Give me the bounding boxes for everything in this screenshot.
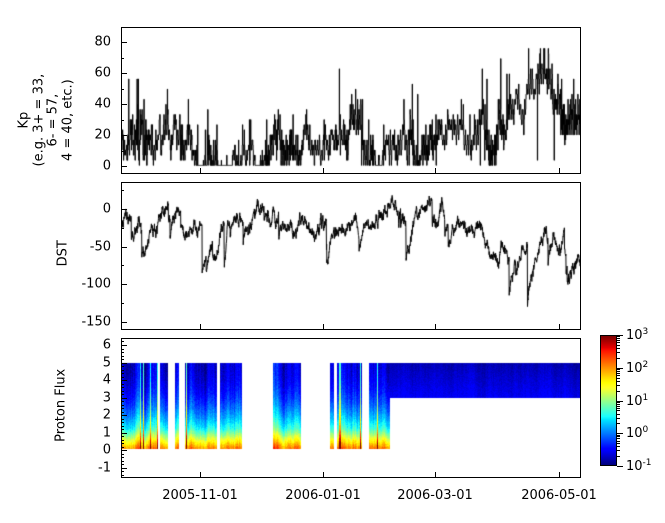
kp-ytick-label: 20 xyxy=(0,128,111,143)
dst-ytick-major xyxy=(121,247,127,248)
colorbar-tick-minor xyxy=(617,375,620,376)
pf-ytick-minor xyxy=(121,370,124,371)
colorbar-tick-minor xyxy=(617,338,620,339)
xtick-major-panel1 xyxy=(323,168,324,174)
xtick-major-panel2 xyxy=(435,324,436,330)
pf-ytick-label: 3 xyxy=(0,390,111,405)
colorbar-tick-minor xyxy=(617,358,620,359)
colorbar-tick-minor xyxy=(617,348,620,349)
pf-ytick-minor xyxy=(121,415,124,416)
pf-ytick-minor xyxy=(121,380,124,381)
pf-ytick-label: 5 xyxy=(0,355,111,370)
pf-ytick-minor xyxy=(121,461,124,462)
colorbar-tick-minor xyxy=(617,450,620,451)
colorbar-exponent: 1 xyxy=(643,393,649,403)
pf-ytick-minor xyxy=(121,391,124,392)
colorbar-tick-minor xyxy=(617,408,620,409)
xtick-major-panel2 xyxy=(200,324,201,330)
xtick-major-panel2 xyxy=(323,324,324,330)
colorbar-exponent: -1 xyxy=(643,458,652,468)
kp-ytick-minor xyxy=(121,151,124,152)
colorbar-exponent: 3 xyxy=(643,327,649,337)
xtick-major-panel3 xyxy=(559,472,560,478)
xtick-major-panel1 xyxy=(435,168,436,174)
xtick-major-panel1 xyxy=(559,168,560,174)
colorbar-tick-label: 100 xyxy=(626,425,648,441)
pf-ytick-minor xyxy=(121,464,124,465)
pf-ytick-minor xyxy=(121,426,124,427)
pf-ytick-minor xyxy=(121,405,124,406)
kp-ytick-major xyxy=(121,42,127,43)
pf-ytick-label: 2 xyxy=(0,408,111,423)
dst-ytick-major xyxy=(121,284,127,285)
dst-ytick-minor xyxy=(121,228,124,229)
colorbar-tick-label: 102 xyxy=(626,360,648,376)
colorbar-tick-minor xyxy=(617,345,620,346)
colorbar-tick-minor xyxy=(617,456,620,457)
colorbar-tick-minor xyxy=(617,340,620,341)
colorbar-tick-minor xyxy=(617,446,620,447)
kp-trace-canvas xyxy=(122,28,580,173)
colorbar-exponent: 0 xyxy=(643,425,649,435)
pf-ytick-minor xyxy=(121,373,124,374)
xtick-label: 2006-01-01 xyxy=(285,488,361,503)
kp-ytick-label: 0 xyxy=(0,159,111,174)
colorbar-tick-minor xyxy=(617,441,620,442)
pf-ytick-minor xyxy=(121,377,124,378)
pf-ytick-minor xyxy=(121,349,124,350)
kp-ytick-major xyxy=(121,104,127,105)
xtick-label: 2005-11-01 xyxy=(162,488,238,503)
pf-ytick-minor xyxy=(121,429,124,430)
colorbar-tick-label: 103 xyxy=(626,327,648,343)
pf-ytick-minor xyxy=(121,359,124,360)
xtick-major-panel3 xyxy=(323,472,324,478)
pf-ytick-label: 0 xyxy=(0,443,111,458)
pf-ytick-minor xyxy=(121,454,124,455)
dst-ytick-minor xyxy=(121,190,124,191)
pf-ytick-minor xyxy=(121,352,124,353)
colorbar-tick-minor xyxy=(617,423,620,424)
pf-ytick-minor xyxy=(121,440,124,441)
pf-ytick-minor xyxy=(121,419,124,420)
colorbar-tick-minor xyxy=(617,381,620,382)
xtick-major-panel3 xyxy=(200,472,201,478)
dst-ytick-label: -50 xyxy=(0,239,111,254)
pf-ytick-minor xyxy=(121,468,124,469)
dst-ytick-major xyxy=(121,322,127,323)
colorbar-tick-label: 10-1 xyxy=(626,458,652,474)
colorbar-frame xyxy=(600,335,617,466)
dst-ytick-label: -100 xyxy=(0,277,111,292)
pf-ytick-minor xyxy=(121,341,124,342)
kp-ytick-label: 60 xyxy=(0,66,111,81)
colorbar-tick-minor xyxy=(617,373,620,374)
pf-ytick-minor xyxy=(121,363,124,364)
pf-ytick-minor xyxy=(121,443,124,444)
pf-ytick-minor xyxy=(121,475,124,476)
colorbar-tick-minor xyxy=(617,443,620,444)
pf-ytick-minor xyxy=(121,384,124,385)
xtick-major-panel2 xyxy=(559,324,560,330)
pf-ytick-minor xyxy=(121,345,124,346)
colorbar-tick-minor xyxy=(617,378,620,379)
pf-ytick-minor xyxy=(121,401,124,402)
pf-ytick-label: 1 xyxy=(0,425,111,440)
colorbar-gradient-canvas xyxy=(601,336,616,465)
pf-ytick-minor xyxy=(121,412,124,413)
xtick-major-panel1 xyxy=(200,168,201,174)
kp-ytick-label: 80 xyxy=(0,35,111,50)
kp-ytick-minor xyxy=(121,89,124,90)
figure-root: Kp(e.g. 3+ = 33,6- = 57,4 = 40, etc.) DS… xyxy=(0,0,665,523)
pf-ytick-minor xyxy=(121,387,124,388)
pf-ytick-minor xyxy=(121,356,124,357)
pf-ytick-label: 4 xyxy=(0,373,111,388)
pf-ytick-minor xyxy=(121,422,124,423)
colorbar-tick-minor xyxy=(617,414,620,415)
xtick-major-panel3 xyxy=(435,472,436,478)
pf-ytick-minor xyxy=(121,394,124,395)
kp-ytick-major xyxy=(121,73,127,74)
proton-flux-spectrogram-canvas xyxy=(122,339,580,477)
colorbar-tick-minor xyxy=(617,438,620,439)
colorbar-tick-minor xyxy=(617,371,620,372)
colorbar-tick-minor xyxy=(617,418,620,419)
colorbar-tick-minor xyxy=(617,410,620,411)
pf-ytick-minor xyxy=(121,450,124,451)
pf-ytick-minor xyxy=(121,408,124,409)
dst-ytick-label: 0 xyxy=(0,201,111,216)
xtick-label: 2006-05-01 xyxy=(521,488,597,503)
axis-label-line: (e.g. 3+ = 33, xyxy=(31,26,46,213)
colorbar-tick-minor xyxy=(617,406,620,407)
pf-ytick-minor xyxy=(121,366,124,367)
xtick-label: 2006-03-01 xyxy=(397,488,473,503)
colorbar-tick-minor xyxy=(617,404,620,405)
dst-trace-canvas xyxy=(122,183,580,329)
pf-ytick-minor xyxy=(121,447,124,448)
colorbar-exponent: 2 xyxy=(643,360,649,370)
pf-ytick-label: -1 xyxy=(0,460,111,475)
colorbar-tick-minor xyxy=(617,435,620,436)
kp-ytick-minor xyxy=(121,120,124,121)
colorbar-tick-minor xyxy=(617,436,620,437)
kp-ytick-label: 40 xyxy=(0,97,111,112)
pf-ytick-minor xyxy=(121,436,124,437)
dst-ytick-label: -150 xyxy=(0,315,111,330)
pf-ytick-minor xyxy=(121,398,124,399)
colorbar-tick-minor xyxy=(617,391,620,392)
kp-ytick-minor xyxy=(121,58,124,59)
pf-ytick-label: 6 xyxy=(0,338,111,353)
kp-ytick-major xyxy=(121,135,127,136)
axis-label-line: Kp xyxy=(17,26,32,213)
kp-ytick-major xyxy=(121,166,127,167)
dst-ytick-major xyxy=(121,209,127,210)
pf-ytick-minor xyxy=(121,471,124,472)
colorbar-tick-minor xyxy=(617,336,620,337)
colorbar-tick-minor xyxy=(617,402,620,403)
colorbar-tick-major xyxy=(617,433,623,434)
colorbar-tick-major xyxy=(617,466,623,467)
colorbar-tick-label: 101 xyxy=(626,393,648,409)
colorbar-tick-minor xyxy=(617,342,620,343)
pf-ytick-minor xyxy=(121,433,124,434)
dst-ytick-minor xyxy=(121,303,124,304)
colorbar-tick-minor xyxy=(617,385,620,386)
colorbar-tick-minor xyxy=(617,352,620,353)
colorbar-tick-minor xyxy=(617,369,620,370)
pf-ytick-minor xyxy=(121,457,124,458)
dst-ytick-minor xyxy=(121,265,124,266)
